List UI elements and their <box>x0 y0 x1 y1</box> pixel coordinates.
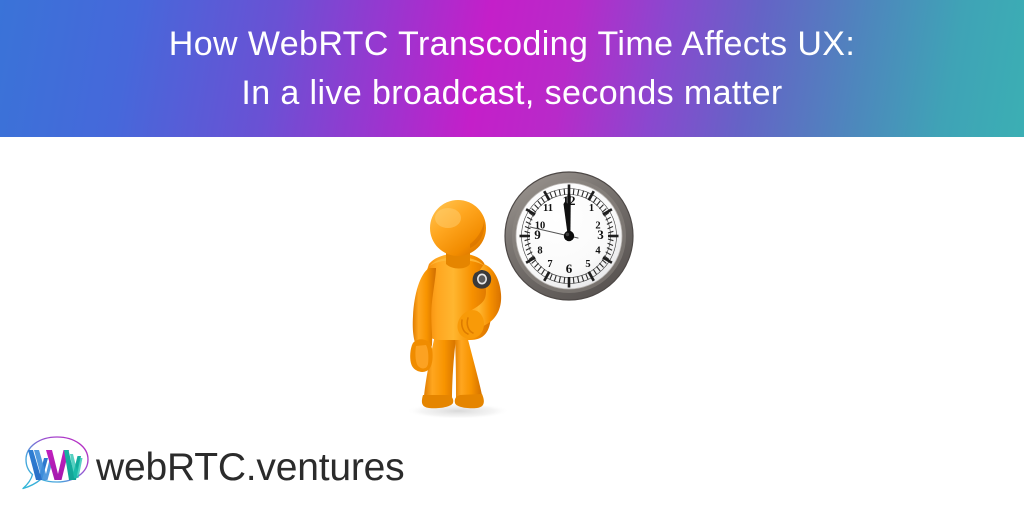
svg-text:8: 8 <box>537 245 542 256</box>
clock-center-cap <box>564 231 574 241</box>
wall-clock-illustration: 12 1 2 3 4 5 6 7 8 9 10 11 <box>503 170 637 304</box>
svg-text:4: 4 <box>595 245 601 256</box>
person-left-hand-highlight <box>415 345 428 368</box>
clock-center-highlight <box>566 233 570 237</box>
svg-text:11: 11 <box>543 203 553 214</box>
svg-text:5: 5 <box>585 259 590 270</box>
page-title-line-1: How WebRTC Transcoding Time Affects UX: <box>169 24 855 64</box>
logo-wordmark: webRTC.ventures <box>96 444 404 487</box>
person-head <box>430 200 486 256</box>
banner-graphic: How WebRTC Transcoding Time Affects UX: … <box>0 0 1024 512</box>
svg-text:6: 6 <box>566 261 573 276</box>
svg-text:7: 7 <box>547 259 552 270</box>
wristwatch-dial <box>479 275 486 283</box>
svg-text:3: 3 <box>597 227 604 242</box>
person-right-foot <box>455 394 484 408</box>
header-title-block: How WebRTC Transcoding Time Affects UX: … <box>0 0 1024 137</box>
webrtc-ventures-logo-mark <box>18 428 94 502</box>
person-head-highlight <box>435 208 461 228</box>
page-title-line-2: In a live broadcast, seconds matter <box>241 73 782 113</box>
brand-logo[interactable]: webRTC.ventures <box>18 428 363 502</box>
svg-text:1: 1 <box>589 203 594 214</box>
